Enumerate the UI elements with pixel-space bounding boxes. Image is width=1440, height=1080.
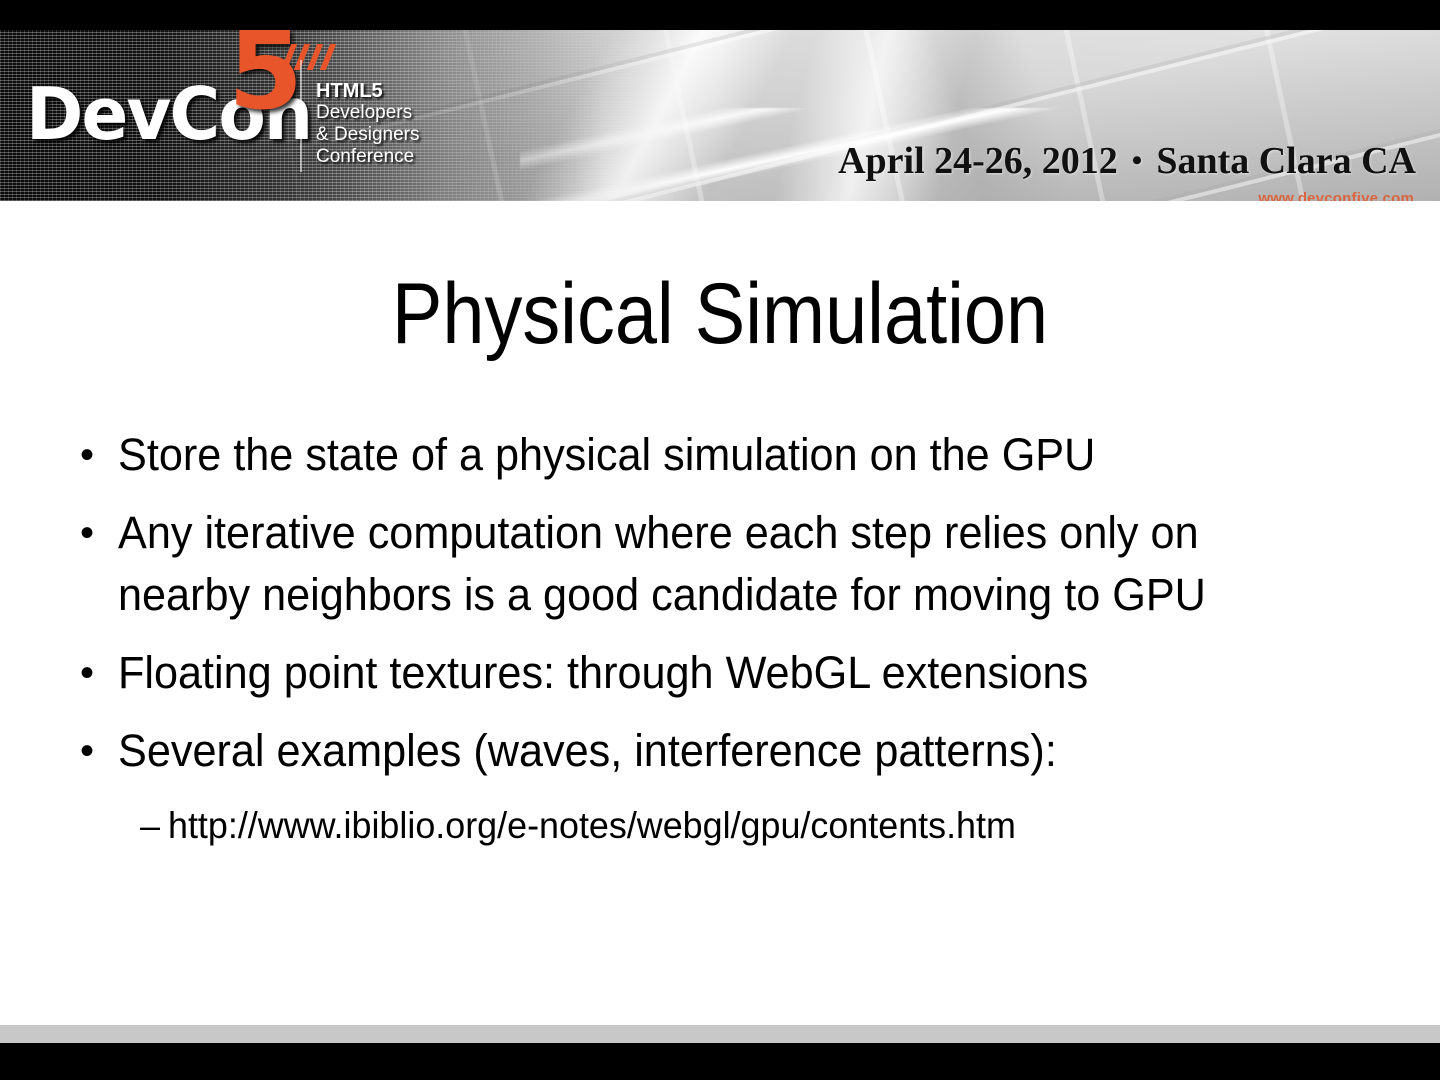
bullet-text: Any iterative computation where each ste… xyxy=(118,502,1330,626)
top-black-band xyxy=(0,0,1440,30)
banner-website-url: www.devconfive.com xyxy=(1258,190,1414,201)
sub-bullet-url-text[interactable]: http://www.ibiblio.org/e-notes/webgl/gpu… xyxy=(168,798,1344,854)
tagline-line-designers: & Designers xyxy=(316,124,420,146)
dash-marker-icon: – xyxy=(140,798,168,854)
banner-location-text: Santa Clara CA xyxy=(1156,140,1416,182)
bullet-marker-icon: • xyxy=(80,642,118,704)
bullet-text: Store the state of a physical simulation… xyxy=(118,424,1330,486)
logo-speedlines-icon xyxy=(281,44,352,70)
bullet-text: Several examples (waves, interference pa… xyxy=(118,720,1330,782)
conference-banner: DevCon 5 HTML5 Developers & Designers Co… xyxy=(0,30,1440,201)
tagline-line-html5: HTML5 xyxy=(316,80,420,102)
list-item: • Any iterative computation where each s… xyxy=(80,502,1380,626)
bullet-marker-icon: • xyxy=(80,502,118,564)
banner-date-location: April 24-26, 2012•Santa Clara CA xyxy=(838,142,1416,180)
slide-content-area: Physical Simulation • Store the state of… xyxy=(0,201,1440,1025)
bullet-list: • Store the state of a physical simulati… xyxy=(80,424,1380,854)
bullet-marker-icon: • xyxy=(80,424,118,486)
bullet-text: Floating point textures: through WebGL e… xyxy=(118,642,1330,704)
tagline-line-conference: Conference xyxy=(316,146,420,168)
banner-date-text: April 24-26, 2012 xyxy=(838,140,1118,182)
list-item: • Floating point textures: through WebGL… xyxy=(80,642,1380,704)
tagline-line-developers: Developers xyxy=(316,102,420,124)
list-item: • Store the state of a physical simulati… xyxy=(80,424,1380,486)
list-item: • Several examples (waves, interference … xyxy=(80,720,1380,782)
footer-gray-bar xyxy=(0,1025,1440,1043)
bullet-marker-icon: • xyxy=(80,720,118,782)
bottom-black-band xyxy=(0,1043,1440,1080)
sub-list-item: – http://www.ibiblio.org/e-notes/webgl/g… xyxy=(140,798,1380,854)
logo-divider xyxy=(300,60,302,172)
slide-root: DevCon 5 HTML5 Developers & Designers Co… xyxy=(0,0,1440,1080)
banner-separator-dot: • xyxy=(1132,144,1143,177)
page-title: Physical Simulation xyxy=(86,271,1353,357)
logo-tagline: HTML5 Developers & Designers Conference xyxy=(316,80,420,168)
